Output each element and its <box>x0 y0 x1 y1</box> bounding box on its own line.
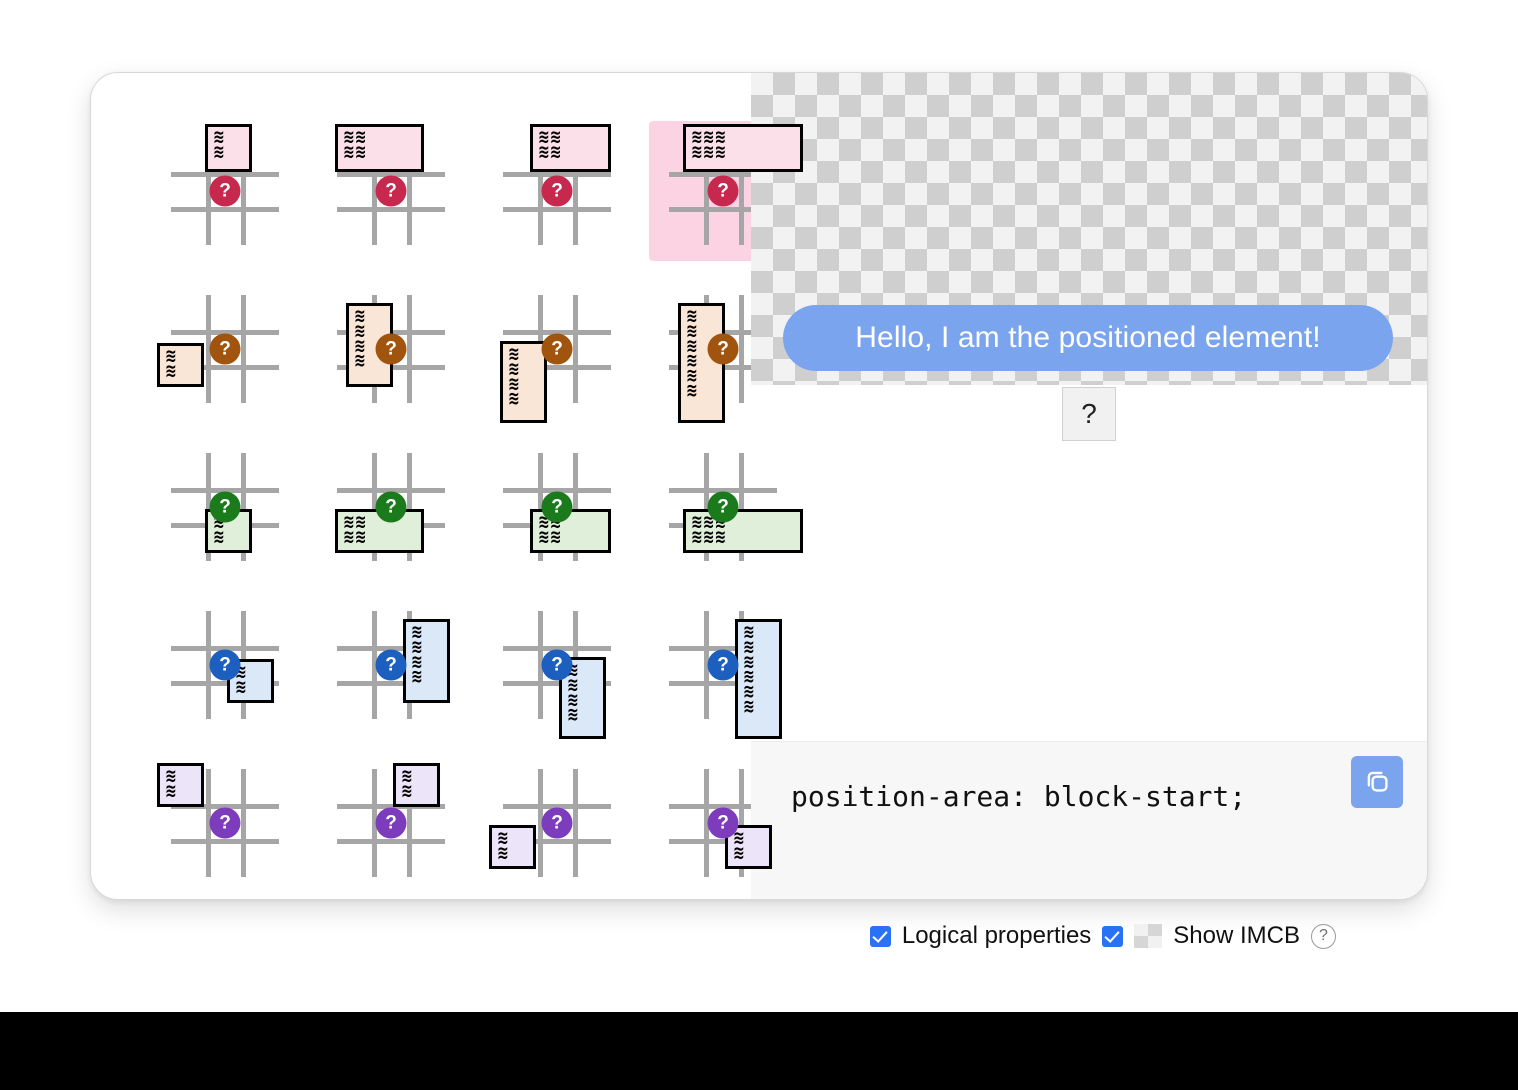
position-area-option-inline-start[interactable]: ≋ ≋ ≋ ≋? <box>317 279 465 419</box>
page-bottom-strip <box>0 1012 1518 1090</box>
positioned-box-preview: ≋ ≋ ≋ ≋ ≋ ≋ <box>735 619 782 739</box>
position-area-option-inline-end-span-block-start[interactable]: ≋ ≋? <box>151 595 299 735</box>
position-area-option-block-start-span-inline-start[interactable]: ≋ ≋? <box>151 121 299 261</box>
positioned-element-tooltip[interactable]: Hello, I am the positioned element! <box>783 305 1393 371</box>
anchor-dot-icon: ? <box>376 650 407 681</box>
anchor-dot-icon: ? <box>542 492 573 523</box>
squiggle-text-icon: ≋≋ ≋≋ <box>343 516 366 546</box>
position-area-option-block-start-inline-end[interactable]: ≋ ≋? <box>317 753 465 893</box>
positioned-box-preview: ≋ ≋ <box>489 825 536 869</box>
anchor-dot-icon: ? <box>210 176 241 207</box>
positioned-box-preview: ≋≋ ≋≋ <box>335 124 424 172</box>
squiggle-text-icon: ≋ ≋ ≋ ≋ <box>508 348 520 407</box>
position-area-option-inline-end-span-block-end[interactable]: ≋ ≋ ≋ ≋? <box>483 595 631 735</box>
position-area-option-inline-end[interactable]: ≋ ≋ ≋ ≋? <box>317 595 465 735</box>
position-area-option-inline-start-span-block-end[interactable]: ≋ ≋ ≋ ≋? <box>483 279 631 419</box>
positioned-box-preview: ≋≋ ≋≋ <box>530 509 611 553</box>
squiggle-text-icon: ≋ ≋ <box>165 350 177 380</box>
squiggle-text-icon: ≋≋ ≋≋ <box>538 131 561 161</box>
squiggle-text-icon: ≋ ≋ <box>497 832 509 862</box>
anchor-dot-icon: ? <box>210 808 241 839</box>
anchor-dot-icon: ? <box>708 334 739 365</box>
position-area-options-grid[interactable]: ≋ ≋?≋≋ ≋≋?≋≋ ≋≋?≋≋≋ ≋≋≋?≋ ≋?≋ ≋ ≋ ≋?≋ ≋ … <box>151 121 797 893</box>
squiggle-text-icon: ≋ ≋ ≋ ≋ ≋ ≋ <box>743 626 755 715</box>
positioned-box-preview: ≋≋≋ ≋≋≋ <box>683 124 803 172</box>
footer-controls: Logical properties Show IMCB ? <box>0 922 1428 950</box>
anchor-dot-icon: ? <box>542 334 573 365</box>
squiggle-text-icon: ≋ ≋ ≋ ≋ <box>354 310 366 369</box>
positioned-box-preview: ≋ ≋ <box>157 343 204 387</box>
position-area-option-block-end-inline-start[interactable]: ≋ ≋? <box>483 753 631 893</box>
position-area-card: ≋ ≋?≋≋ ≋≋?≋≋ ≋≋?≋≋≋ ≋≋≋?≋ ≋?≋ ≋ ≋ ≋?≋ ≋ … <box>90 72 1428 900</box>
anchor-dot-icon: ? <box>376 492 407 523</box>
squiggle-text-icon: ≋ ≋ ≋ ≋ <box>411 626 423 685</box>
anchor-element[interactable]: ? <box>1062 387 1116 441</box>
positioned-box-preview: ≋ ≋ <box>205 124 252 172</box>
position-area-option-block-start-span-inline-end[interactable]: ≋≋ ≋≋? <box>483 121 631 261</box>
preview-pane: Hello, I am the positioned element! ? po… <box>751 73 1427 899</box>
anchor-dot-icon: ? <box>376 176 407 207</box>
positioned-element-text: Hello, I am the positioned element! <box>855 321 1320 355</box>
squiggle-text-icon: ≋ ≋ <box>401 770 413 800</box>
anchor-dot-icon: ? <box>376 334 407 365</box>
help-icon[interactable]: ? <box>1311 924 1336 949</box>
squiggle-text-icon: ≋≋ ≋≋ <box>343 131 366 161</box>
position-area-option-inline-start-span-block-start[interactable]: ≋ ≋? <box>151 279 299 419</box>
app-stage: ≋ ≋?≋≋ ≋≋?≋≋ ≋≋?≋≋≋ ≋≋≋?≋ ≋?≋ ≋ ≋ ≋?≋ ≋ … <box>0 0 1518 1012</box>
code-panel: position-area: block-start; <box>751 741 1428 899</box>
positioned-box-preview: ≋ ≋ ≋ ≋ <box>403 619 450 703</box>
positioned-box-preview: ≋≋≋ ≋≋≋ <box>683 509 803 553</box>
anchor-dot-icon: ? <box>542 808 573 839</box>
anchor-dot-icon: ? <box>210 650 241 681</box>
copy-icon <box>1362 766 1392 799</box>
imcb-swatch-icon <box>1134 924 1162 948</box>
squiggle-text-icon: ≋≋≋ ≋≋≋ <box>691 131 726 161</box>
squiggle-text-icon: ≋ ≋ <box>165 770 177 800</box>
position-area-option-block-end-span-inline-end[interactable]: ≋≋ ≋≋? <box>483 437 631 577</box>
logical-properties-checkbox[interactable] <box>870 926 891 947</box>
css-declaration: position-area: block-start; <box>791 780 1246 813</box>
copy-code-button[interactable] <box>1351 756 1403 808</box>
positioned-box-preview: ≋ ≋ ≋ ≋ <box>500 341 547 423</box>
position-area-options-pane: ≋ ≋?≋≋ ≋≋?≋≋ ≋≋?≋≋≋ ≋≋≋?≋ ≋?≋ ≋ ≋ ≋?≋ ≋ … <box>91 73 751 899</box>
positioned-box-preview: ≋ ≋ <box>157 763 204 807</box>
anchor-dot-icon: ? <box>542 650 573 681</box>
squiggle-text-icon: ≋ ≋ <box>213 131 225 161</box>
squiggle-text-icon: ≋ ≋ ≋ ≋ ≋ ≋ <box>686 310 698 399</box>
position-area-option-block-start[interactable]: ≋≋ ≋≋? <box>317 121 465 261</box>
positioned-box-preview: ≋≋ ≋≋ <box>530 124 611 172</box>
logical-properties-label: Logical properties <box>902 922 1091 950</box>
anchor-dot-icon: ? <box>708 650 739 681</box>
anchor-dot-icon: ? <box>210 334 241 365</box>
position-area-option-block-end-span-inline-start[interactable]: ≋ ≋? <box>151 437 299 577</box>
positioned-box-preview: ≋ ≋ <box>393 763 440 807</box>
anchor-dot-icon: ? <box>708 492 739 523</box>
anchor-dot-icon: ? <box>708 176 739 207</box>
anchor-label: ? <box>1081 398 1097 430</box>
squiggle-text-icon: ≋ ≋ <box>733 832 745 862</box>
anchor-dot-icon: ? <box>542 176 573 207</box>
anchor-dot-icon: ? <box>210 492 241 523</box>
position-area-option-block-start-inline-start[interactable]: ≋ ≋? <box>151 753 299 893</box>
position-area-option-block-end[interactable]: ≋≋ ≋≋? <box>317 437 465 577</box>
show-imcb-label: Show IMCB <box>1173 922 1300 950</box>
anchor-dot-icon: ? <box>376 808 407 839</box>
show-imcb-checkbox[interactable] <box>1102 926 1123 947</box>
anchor-dot-icon: ? <box>708 808 739 839</box>
